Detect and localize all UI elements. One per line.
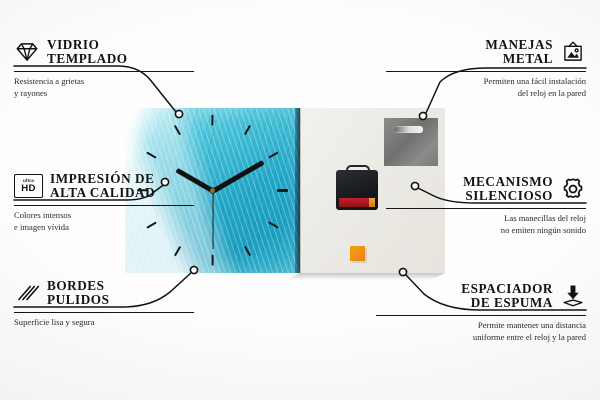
feature-subtitle: Las manecillas del reloj no emiten ningú… bbox=[386, 212, 586, 236]
hanger-slot bbox=[393, 126, 423, 133]
clock-tick bbox=[211, 255, 213, 266]
feature-title: MANEJAS METAL bbox=[485, 38, 553, 67]
feature-impresion-alta-calidad: ultra HD IMPRESIÓN DE ALTA CALIDAD Color… bbox=[14, 172, 194, 233]
feature-header: MANEJAS METAL bbox=[386, 38, 586, 67]
divider bbox=[14, 205, 194, 206]
feature-mecanismo-silencioso: MECANISMO SILENCIOSO Las manecillas del … bbox=[386, 175, 586, 236]
clock-tick bbox=[174, 246, 181, 257]
feature-subtitle: Colores intensos e imagen vívida bbox=[14, 209, 194, 233]
feature-title: IMPRESIÓN DE ALTA CALIDAD bbox=[50, 172, 155, 201]
infographic-canvas: VIDRIO TEMPLADO Resistencia a grietas y … bbox=[0, 0, 600, 400]
clock-second-hand bbox=[212, 191, 213, 249]
feature-espaciador-espuma: ESPACIADOR DE ESPUMA Permite mantener un… bbox=[376, 282, 586, 343]
diamond-icon bbox=[14, 39, 40, 65]
feature-header: ESPACIADOR DE ESPUMA bbox=[376, 282, 586, 311]
divider bbox=[376, 315, 586, 316]
ultra-hd-icon: ultra HD bbox=[14, 174, 43, 198]
clock-tick bbox=[277, 189, 288, 191]
clock-tick bbox=[244, 246, 251, 257]
divider bbox=[14, 71, 194, 72]
feature-subtitle: Permite mantener una distancia uniforme … bbox=[376, 319, 586, 343]
feature-subtitle: Superficie lisa y segura bbox=[14, 316, 194, 328]
divider bbox=[14, 312, 194, 313]
divider bbox=[386, 208, 586, 209]
clock-tick bbox=[268, 222, 279, 229]
movement-hook bbox=[346, 165, 370, 174]
feature-subtitle: Permiten una fácil instalación del reloj… bbox=[386, 75, 586, 99]
feature-vidrio-templado: VIDRIO TEMPLADO Resistencia a grietas y … bbox=[14, 38, 194, 99]
feature-manejas-metal: MANEJAS METAL Permiten una fácil instala… bbox=[386, 38, 586, 99]
feature-title: VIDRIO TEMPLADO bbox=[47, 38, 128, 67]
feature-title: MECANISMO SILENCIOSO bbox=[463, 175, 553, 204]
feature-bordes-pulidos: BORDES PULIDOS Superficie lisa y segura bbox=[14, 279, 194, 328]
feature-title: BORDES PULIDOS bbox=[47, 279, 109, 308]
foam-spacer bbox=[350, 246, 365, 261]
clock-center-pin bbox=[210, 188, 215, 193]
feature-header: VIDRIO TEMPLADO bbox=[14, 38, 194, 67]
clock-tick bbox=[147, 152, 158, 159]
clock-tick bbox=[211, 115, 213, 126]
feature-header: MECANISMO SILENCIOSO bbox=[386, 175, 586, 204]
feature-title: ESPACIADOR DE ESPUMA bbox=[461, 282, 553, 311]
metal-hanger-plate bbox=[384, 118, 438, 166]
clock-tick bbox=[244, 125, 251, 136]
wall-mount-icon bbox=[560, 39, 586, 65]
quartz-movement bbox=[336, 170, 378, 210]
foam-spacer-icon bbox=[560, 283, 586, 309]
battery bbox=[339, 198, 375, 207]
feature-header: ultra HD IMPRESIÓN DE ALTA CALIDAD bbox=[14, 172, 194, 201]
clock-minute-hand bbox=[211, 160, 264, 193]
divider bbox=[386, 71, 586, 72]
polished-edges-icon bbox=[14, 280, 40, 306]
gear-icon bbox=[560, 176, 586, 202]
feature-subtitle: Resistencia a grietas y rayones bbox=[14, 75, 194, 99]
clock-tick bbox=[268, 152, 279, 159]
feature-header: BORDES PULIDOS bbox=[14, 279, 194, 308]
clock-tick bbox=[174, 125, 181, 136]
